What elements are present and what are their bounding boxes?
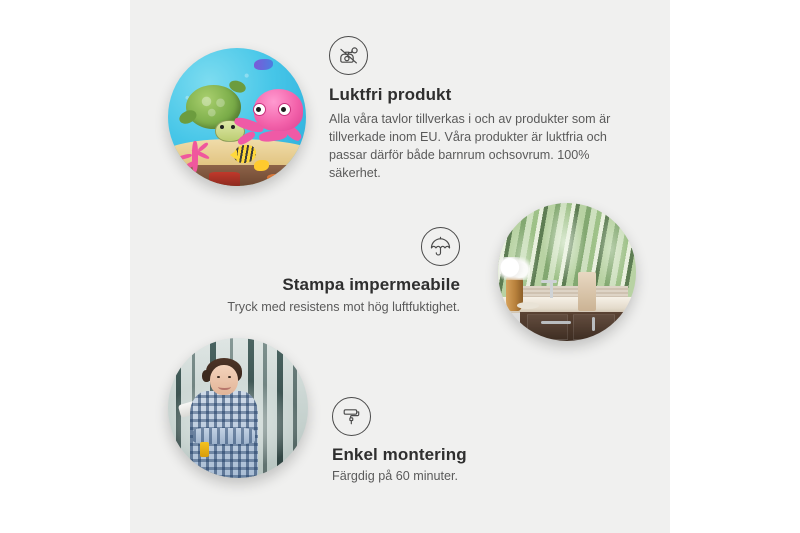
- sea-fish-striped: [234, 145, 256, 163]
- woman-eye-right: [228, 376, 231, 378]
- feature-odour-free: Luktfri produkt Alla våra tavlor tillver…: [329, 36, 629, 183]
- cabinet-handle-horizontal: [541, 321, 571, 324]
- no-odour-spray-bottle-icon: [329, 36, 368, 75]
- sea-life-illustration: [168, 48, 306, 186]
- feature-easy-mounting: Enkel montering Färgdig på 60 minuter.: [332, 397, 592, 486]
- page-root: Luktfri produkt Alla våra tavlor tillver…: [0, 0, 800, 533]
- feature-title: Luktfri produkt: [329, 84, 629, 105]
- sea-fish-small: [254, 160, 269, 171]
- woman-face: [210, 365, 238, 396]
- feature-description: Färgdig på 60 minuter.: [332, 468, 592, 486]
- feature-description: Alla våra tavlor tillverkas i och av pro…: [329, 111, 629, 183]
- bathroom-faucet: [550, 280, 553, 298]
- bathroom-scene: [498, 203, 636, 341]
- bathroom-towel: [578, 272, 596, 311]
- feature-waterproof-print: Stampa impermeabile Tryck med resistens …: [188, 227, 460, 317]
- umbrella-icon: [421, 227, 460, 266]
- sea-rock-red: [209, 172, 239, 186]
- photo-woman-painter[interactable]: [168, 338, 308, 478]
- photo-sea-life[interactable]: [168, 48, 306, 186]
- feature-description: Tryck med resistens mot hög luftfuktighe…: [188, 299, 460, 317]
- sea-rock-orange: [267, 174, 292, 185]
- feature-title: Stampa impermeabile: [188, 274, 460, 295]
- woman-painter-scene: [168, 338, 308, 478]
- sea-coral: [174, 131, 221, 172]
- photo-bathroom[interactable]: [498, 203, 636, 341]
- cabinet-door-left: [527, 314, 568, 340]
- sea-octopus-eye-right: [278, 103, 291, 116]
- cabinet-handle-vertical: [592, 317, 595, 330]
- bathroom-vanity-cabinet: [520, 312, 636, 341]
- feature-title: Enkel montering: [332, 444, 592, 465]
- woman-tool-grip: [200, 442, 208, 457]
- sea-fish-blue: [254, 59, 273, 70]
- woman-eye-left: [217, 376, 220, 378]
- bathroom-white-flowers: [499, 257, 529, 280]
- paint-roller-icon: [332, 397, 371, 436]
